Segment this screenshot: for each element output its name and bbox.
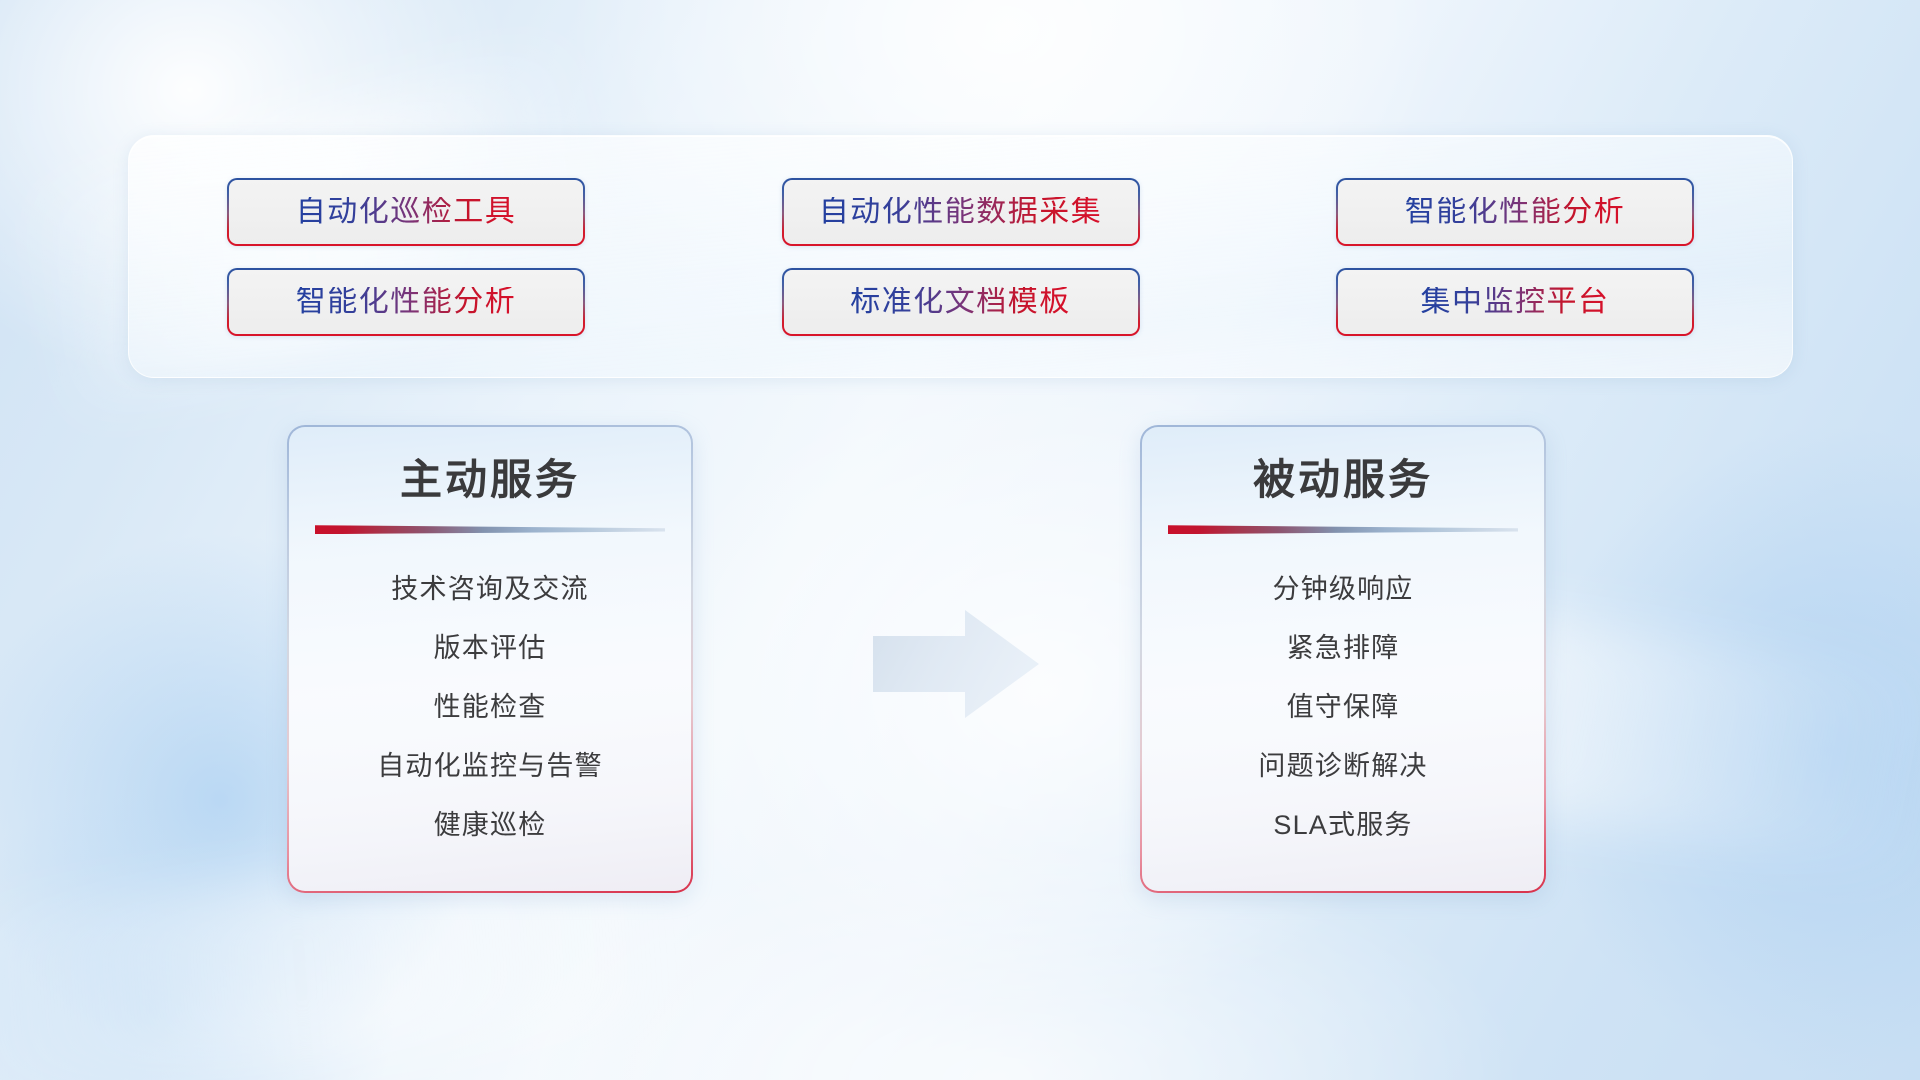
reactive-service-title: 被动服务 (1253, 457, 1433, 503)
capability-chip-label: 集中监控平台 (1421, 287, 1610, 317)
list-item: 值守保障 (1168, 678, 1518, 737)
list-item: 技术咨询及交流 (315, 560, 665, 619)
arrow-right-shape (873, 610, 1039, 718)
capability-chip-inner: 集中监控平台 (1338, 270, 1692, 334)
capability-chip-intelligent-performance-analysis[interactable]: 智能化性能分析 (1336, 178, 1694, 246)
capability-panel: 自动化巡检工具 自动化性能数据采集 智能化性能分析 智能化性能分析 (128, 135, 1793, 378)
capability-row-2: 智能化性能分析 标准化文档模板 集中监控平台 (129, 268, 1792, 336)
list-item: 版本评估 (315, 619, 665, 678)
arrow-right-icon (873, 610, 1039, 718)
capability-chip-inner: 智能化性能分析 (1338, 180, 1692, 244)
list-item: 紧急排障 (1168, 619, 1518, 678)
capability-cell: 标准化文档模板 (782, 268, 1140, 336)
proactive-service-card: 主动服务 技术咨询及交流 版本评估 性能检查 自动化监控与告警 健康巡检 (287, 425, 693, 893)
capability-chip-inner: 自动化性能数据采集 (784, 180, 1138, 244)
capability-chip-label: 标准化文档模板 (850, 287, 1071, 317)
list-item: 健康巡检 (315, 796, 665, 855)
reactive-service-divider (1168, 525, 1518, 534)
list-item: SLA式服务 (1168, 796, 1518, 855)
capability-chip-intelligent-performance-analysis-2[interactable]: 智能化性能分析 (227, 268, 585, 336)
capability-chip-inner: 标准化文档模板 (784, 270, 1138, 334)
capability-chip-inner: 智能化性能分析 (229, 270, 583, 334)
reactive-service-list: 分钟级响应 紧急排障 值守保障 问题诊断解决 SLA式服务 (1168, 560, 1518, 855)
capability-cell: 自动化巡检工具 (227, 178, 585, 246)
capability-chip-label: 自动化巡检工具 (296, 197, 517, 227)
reactive-service-card-inner: 被动服务 分钟级响应 紧急排障 值守保障 问题诊断解决 SLA式服务 (1142, 427, 1544, 891)
capability-cell: 智能化性能分析 (227, 268, 585, 336)
arrow-right-icon-svg (873, 610, 1039, 718)
capability-chip-auto-inspection-tool[interactable]: 自动化巡检工具 (227, 178, 585, 246)
capability-cell: 集中监控平台 (1336, 268, 1694, 336)
capability-chip-standard-document-template[interactable]: 标准化文档模板 (782, 268, 1140, 336)
capability-chip-label: 智能化性能分析 (296, 287, 517, 317)
list-item: 性能检查 (315, 678, 665, 737)
capability-row-1: 自动化巡检工具 自动化性能数据采集 智能化性能分析 (129, 178, 1792, 246)
proactive-service-divider (315, 525, 665, 534)
proactive-service-list: 技术咨询及交流 版本评估 性能检查 自动化监控与告警 健康巡检 (315, 560, 665, 855)
list-item: 自动化监控与告警 (315, 737, 665, 796)
capability-cell: 自动化性能数据采集 (782, 178, 1140, 246)
proactive-service-title: 主动服务 (400, 457, 580, 503)
capability-cell: 智能化性能分析 (1336, 178, 1694, 246)
capability-chip-auto-performance-data-collection[interactable]: 自动化性能数据采集 (782, 178, 1140, 246)
capability-chip-label: 智能化性能分析 (1405, 197, 1626, 227)
reactive-service-card: 被动服务 分钟级响应 紧急排障 值守保障 问题诊断解决 SLA式服务 (1140, 425, 1546, 893)
list-item: 问题诊断解决 (1168, 737, 1518, 796)
capability-chip-inner: 自动化巡检工具 (229, 180, 583, 244)
list-item: 分钟级响应 (1168, 560, 1518, 619)
proactive-service-card-inner: 主动服务 技术咨询及交流 版本评估 性能检查 自动化监控与告警 健康巡检 (289, 427, 691, 891)
capability-chip-label: 自动化性能数据采集 (819, 197, 1103, 227)
capability-chip-centralized-monitoring-platform[interactable]: 集中监控平台 (1336, 268, 1694, 336)
